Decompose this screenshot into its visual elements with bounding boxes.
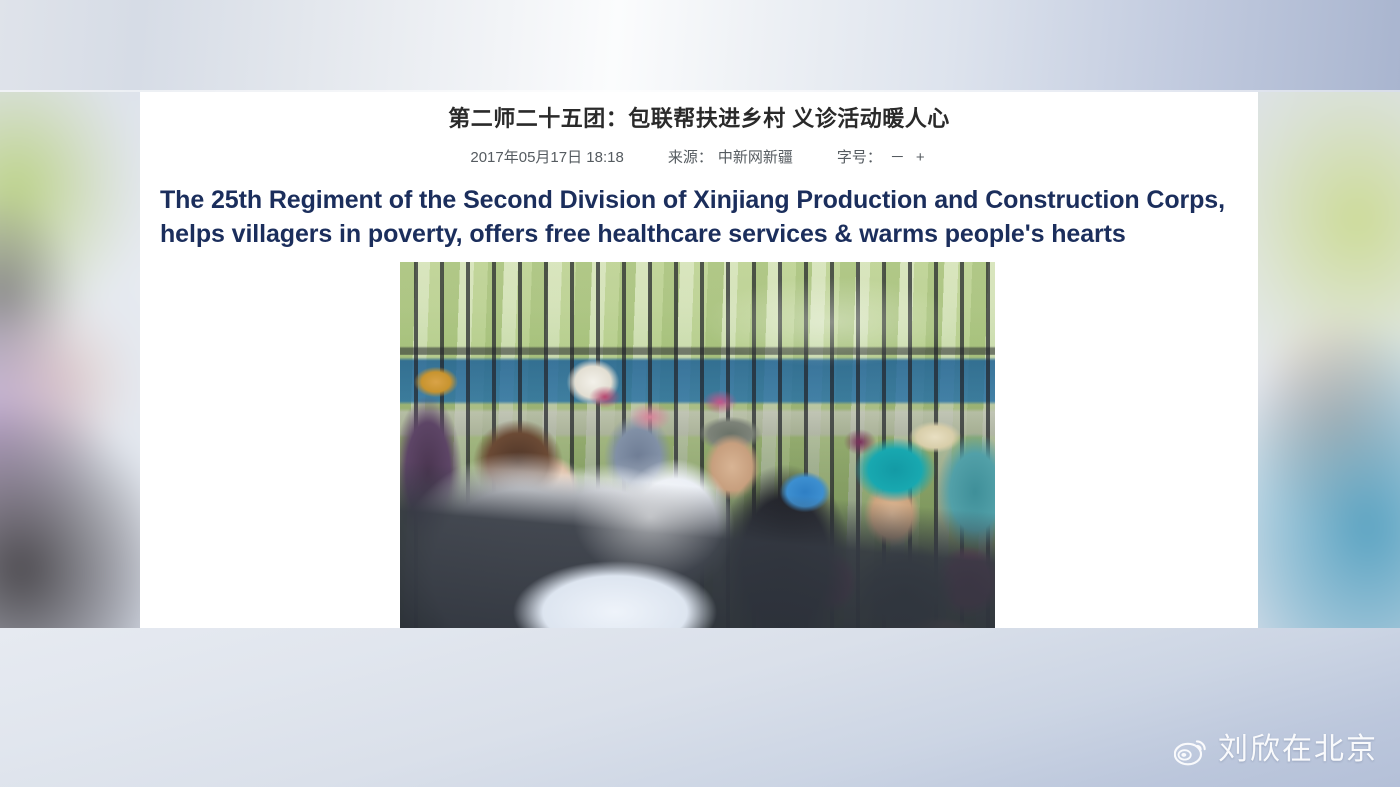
watermark-handle: 刘欣在北京 [1218,733,1378,767]
english-headline-line-1: The 25th Regiment of the Second Division… [160,183,1238,217]
english-headline-line-2: helps villagers in poverty, offers free … [160,217,1238,251]
watermark: 刘欣在北京 [1174,733,1378,767]
fontsize-controls: 字号： － + [837,147,928,169]
fontsize-increase-button[interactable]: + [913,147,928,169]
source-label: 来源： [668,147,713,169]
article-panel: 第二师二十五团：包联帮扶进乡村 义诊活动暖人心 2017年05月17日 18:1… [140,92,1258,628]
weibo-logo-icon [1174,734,1210,766]
screenshot-root: 第二师二十五团：包联帮扶进乡村 义诊活动暖人心 2017年05月17日 18:1… [0,0,1400,787]
source-group: 来源： 中新网新疆 [668,147,793,169]
source-value[interactable]: 中新网新疆 [718,147,793,169]
top-gradient-band [0,0,1400,92]
fontsize-decrease-button[interactable]: － [887,147,908,169]
fontsize-label: 字号： [837,147,882,169]
article-photo-image [400,262,995,628]
publish-datetime: 2017年05月17日 18:18 [470,147,623,169]
english-headline: The 25th Regiment of the Second Division… [160,183,1238,251]
article-photo [400,262,995,628]
chinese-headline: 第二师二十五团：包联帮扶进乡村 义诊活动暖人心 [140,104,1258,134]
article-meta-row: 2017年05月17日 18:18 来源： 中新网新疆 字号： － + [140,147,1258,169]
